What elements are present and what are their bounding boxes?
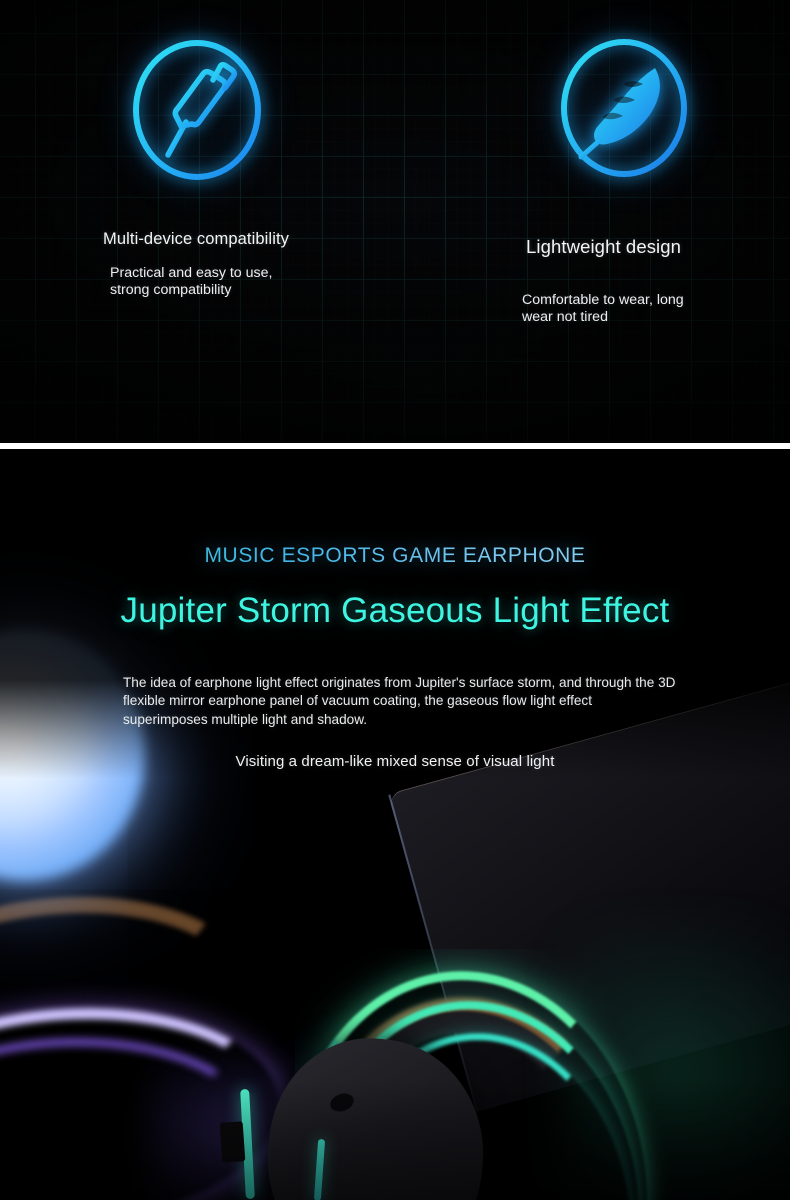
feature-columns: Multi-device compatibility Practical and… xyxy=(0,0,790,443)
feature-title: Multi-device compatibility xyxy=(103,230,289,249)
feature-subtitle: Practical and easy to use, strong compat… xyxy=(110,265,272,298)
hero-panel: MUSIC ESPORTS GAME EARPHONE Jupiter Stor… xyxy=(0,449,790,1200)
feature-item-lightweight: Lightweight design Comfortable to wear, … xyxy=(395,0,790,443)
usb-cable-icon xyxy=(124,34,270,186)
feather-icon xyxy=(551,32,697,184)
hero-description: The idea of earphone light effect origin… xyxy=(110,674,680,729)
hero-kicker: MUSIC ESPORTS GAME EARPHONE xyxy=(0,544,790,568)
hero-copy: MUSIC ESPORTS GAME EARPHONE Jupiter Stor… xyxy=(0,449,790,770)
hero-tagline: Visiting a dream-like mixed sense of vis… xyxy=(0,753,790,770)
feature-item-multi-device: Multi-device compatibility Practical and… xyxy=(0,0,395,443)
hero-title: Jupiter Storm Gaseous Light Effect xyxy=(0,591,790,631)
feature-title: Lightweight design xyxy=(526,236,681,258)
bottom-vignette xyxy=(0,1080,790,1200)
product-feature-page: Multi-device compatibility Practical and… xyxy=(0,0,790,1200)
feature-subtitle: Comfortable to wear, long wear not tired xyxy=(522,292,684,325)
features-panel: Multi-device compatibility Practical and… xyxy=(0,0,790,443)
